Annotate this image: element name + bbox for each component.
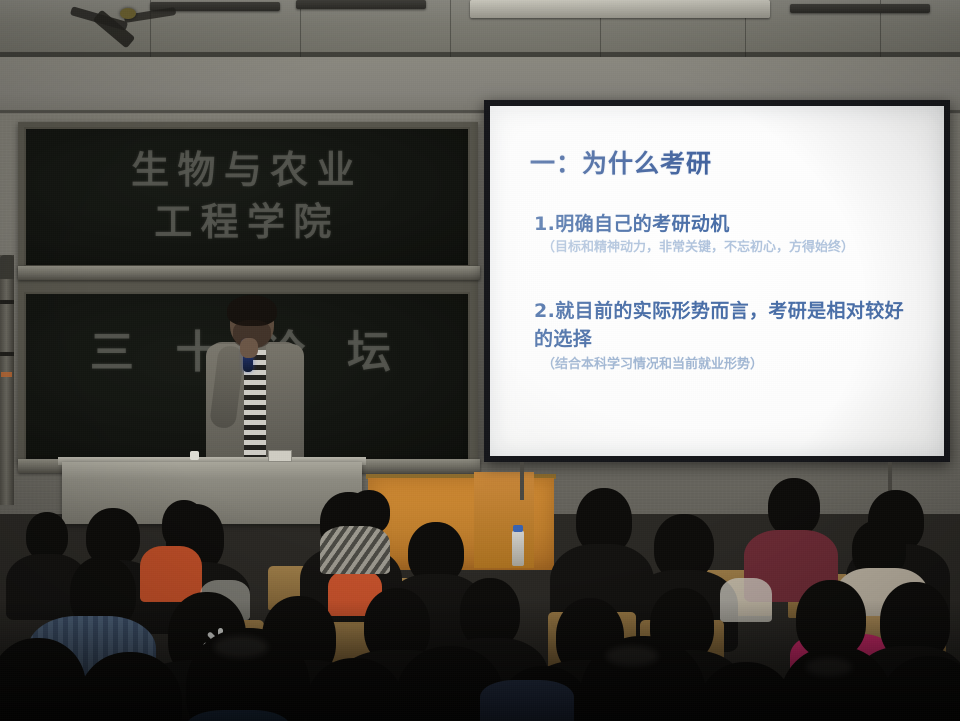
- slide-bullet-2-heading: 2.就目前的实际形势而言，考研是相对较好的选择: [534, 298, 920, 353]
- slide-bullet-1-heading: 1.明确自己的考研动机: [534, 209, 730, 236]
- eraser-box: [268, 450, 292, 462]
- chalk-text-line-2: 工程学院: [26, 191, 468, 246]
- blackboard-upper-panel: 生物与农业 工程学院: [24, 127, 470, 267]
- chalk-ledge: [18, 266, 480, 280]
- slide-bullet-1-sub: （目标和精神动力，非常关键，不忘初心，方得始终）: [542, 236, 854, 255]
- presenter-hand: [240, 338, 258, 358]
- projection-screen-frame: 一：为什么考研 1.明确自己的考研动机 （目标和精神动力，非常关键，不忘初心，方…: [484, 100, 950, 462]
- grey-striped-top: [320, 526, 390, 574]
- audience-head: [768, 478, 820, 536]
- presenter: [196, 298, 312, 470]
- fan-hub-icon: [120, 8, 136, 19]
- ceiling-fan: [84, 2, 180, 48]
- slide-title: 一：为什么考研: [530, 144, 712, 180]
- conduit-cap-icon: [0, 255, 14, 279]
- wall-conduit-pipe: [0, 255, 14, 505]
- chalk-piece: [190, 451, 199, 460]
- ceiling-light-fixture: [296, 0, 426, 9]
- audience-head: [162, 500, 206, 550]
- status-indicator-light: [1, 372, 12, 377]
- chalk-text-line-1: 生物与农业: [26, 139, 468, 194]
- student-audience: [0, 470, 960, 721]
- presentation-slide: 一：为什么考研 1.明确自己的考研动机 （目标和精神动力，非常关键，不忘初心，方…: [490, 106, 944, 456]
- slide-bullet-2-sub: （结合本科学习情况和当前就业形势）: [542, 353, 763, 372]
- audience-head: [26, 512, 68, 560]
- denim-top: [480, 680, 574, 721]
- projection-screen-surface: 一：为什么考研 1.明确自己的考研动机 （目标和精神动力，非常关键，不忘初心，方…: [490, 106, 944, 456]
- ceiling-light-fixture: [790, 4, 930, 13]
- white-shirt: [720, 578, 772, 622]
- lecture-hall-photo: 生物与农业 工程学院 三 十 论 坛 一：为什么考研: [0, 0, 960, 721]
- ceiling-light-fixture: [470, 0, 770, 18]
